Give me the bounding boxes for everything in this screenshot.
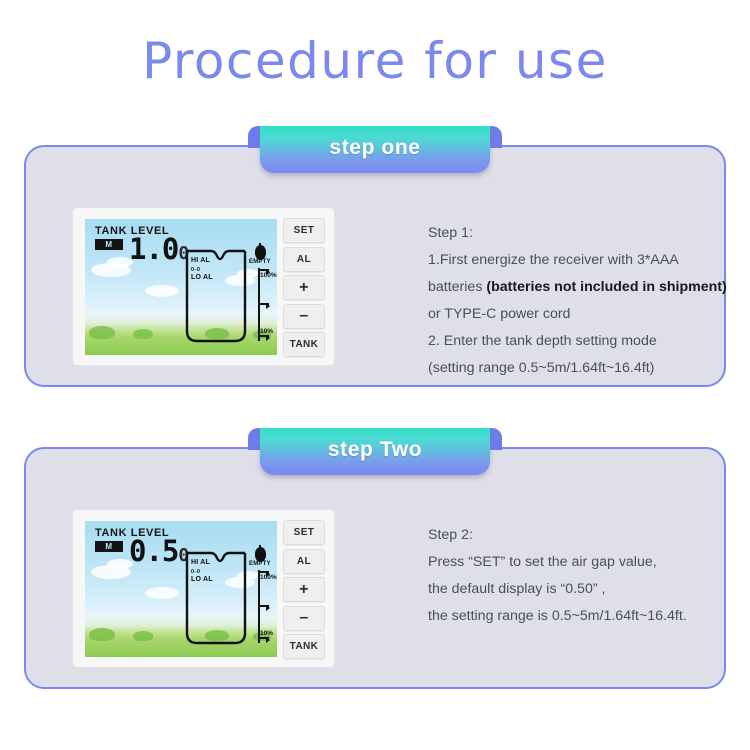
instruction-text: Press “SET” to set the air gap value, <box>428 554 657 570</box>
level-reading: 0.50 <box>129 537 189 566</box>
gauge-arrow-mid-icon <box>258 605 269 607</box>
gauge-arrow-bottom-icon <box>258 335 269 337</box>
instruction-line: 1.First energize the receiver with 3*AAA <box>428 247 728 274</box>
plus-button[interactable]: + <box>283 275 325 300</box>
cloud-shape <box>145 285 179 297</box>
alarm-labels: HI AL 0-0 LO AL <box>191 559 213 585</box>
alarm-hi-label: HI AL <box>191 559 213 568</box>
level-reading-main: 0.5 <box>129 534 178 568</box>
level-reading-main: 1.0 <box>129 232 178 266</box>
alarm-mid-label: 0-0 <box>191 266 213 275</box>
battery-icon <box>255 245 266 260</box>
instruction-line: batteries (batteries not included in shi… <box>428 274 728 301</box>
level-reading: 1.00 <box>129 235 189 264</box>
al-button[interactable]: AL <box>283 247 325 272</box>
set-button[interactable]: SET <box>283 218 325 243</box>
alarm-mid-label: 0-0 <box>191 568 213 577</box>
set-button[interactable]: SET <box>283 520 325 545</box>
lcd-screen: TANK LEVEL M 0.50 HI AL 0-0 LO AL EMPTY … <box>85 521 277 657</box>
lcd-screen: TANK LEVEL M 1.00 HI AL 0-0 LO AL EMPTY … <box>85 219 277 355</box>
bush-shape <box>133 631 153 641</box>
bush-shape <box>89 628 115 641</box>
unit-badge: M <box>95 239 123 250</box>
cloud-shape <box>145 587 179 599</box>
page-title: Procedure for use <box>0 34 750 89</box>
step-two-badge: step Two <box>250 428 500 475</box>
level-gauge: EMPTY 100% 10% <box>251 245 277 345</box>
instruction-text: (setting range 0.5~5m/1.64ft~16.4ft) <box>428 360 654 376</box>
instruction-text: batteries <box>428 279 486 295</box>
instruction-line: Press “SET” to set the air gap value, <box>428 549 728 576</box>
step-two-instructions: Step 2:Press “SET” to set the air gap va… <box>428 522 728 630</box>
device-button-column: SET AL + – TANK <box>283 520 325 659</box>
tank-button[interactable]: TANK <box>283 634 325 659</box>
step-two-badge-label: step Two <box>328 438 422 465</box>
instruction-text: Step 1: <box>428 225 473 241</box>
instruction-line: the setting range is 0.5~5m/1.64ft~16.4f… <box>428 603 728 630</box>
instruction-emphasis: (batteries not included in shipment) <box>486 279 726 295</box>
instruction-text: or TYPE-C power cord <box>428 306 570 322</box>
bush-shape <box>133 329 153 339</box>
step-one-badge-label: step one <box>329 136 420 163</box>
alarm-hi-label: HI AL <box>191 257 213 266</box>
alarm-lo-label: LO AL <box>191 274 213 283</box>
level-gauge: EMPTY 100% 10% <box>251 547 277 647</box>
battery-status-label: EMPTY <box>249 259 271 265</box>
plus-button[interactable]: + <box>283 577 325 602</box>
alarm-lo-label: LO AL <box>191 576 213 585</box>
unit-badge: M <box>95 541 123 552</box>
instruction-text: Step 2: <box>428 527 473 543</box>
step-one-badge: step one <box>250 126 500 173</box>
instruction-line: (setting range 0.5~5m/1.64ft~16.4ft) <box>428 355 728 382</box>
instruction-line: Step 1: <box>428 220 728 247</box>
instruction-line: 2. Enter the tank depth setting mode <box>428 328 728 355</box>
gauge-arrow-mid-icon <box>258 303 269 305</box>
instruction-line: Step 2: <box>428 522 728 549</box>
device-button-column: SET AL + – TANK <box>283 218 325 357</box>
gauge-top-label: 100% <box>260 574 277 581</box>
instruction-text: the setting range is 0.5~5m/1.64ft~16.4f… <box>428 608 687 624</box>
minus-button[interactable]: – <box>283 304 325 329</box>
instruction-text: 1.First energize the receiver with 3*AAA <box>428 252 679 268</box>
ribbon-body: step Two <box>260 428 490 475</box>
instruction-text: the default display is “0.50” , <box>428 581 605 597</box>
ribbon-body: step one <box>260 126 490 173</box>
battery-status-label: EMPTY <box>249 561 271 567</box>
gauge-bottom-label: 10% <box>260 328 273 335</box>
step-one-instructions: Step 1:1.First energize the receiver wit… <box>428 220 728 382</box>
al-button[interactable]: AL <box>283 549 325 574</box>
battery-icon <box>255 547 266 562</box>
gauge-bottom-label: 10% <box>260 630 273 637</box>
tank-button[interactable]: TANK <box>283 332 325 357</box>
receiver-device-step-one: TANK LEVEL M 1.00 HI AL 0-0 LO AL EMPTY … <box>72 207 335 366</box>
gauge-arrow-top-icon <box>258 571 269 573</box>
receiver-device-step-two: TANK LEVEL M 0.50 HI AL 0-0 LO AL EMPTY … <box>72 509 335 668</box>
alarm-labels: HI AL 0-0 LO AL <box>191 257 213 283</box>
gauge-arrow-bottom-icon <box>258 637 269 639</box>
instruction-line: the default display is “0.50” , <box>428 576 728 603</box>
minus-button[interactable]: – <box>283 606 325 631</box>
bush-shape <box>89 326 115 339</box>
instruction-line: or TYPE-C power cord <box>428 301 728 328</box>
gauge-arrow-top-icon <box>258 269 269 271</box>
instruction-text: 2. Enter the tank depth setting mode <box>428 333 657 349</box>
gauge-top-label: 100% <box>260 272 277 279</box>
